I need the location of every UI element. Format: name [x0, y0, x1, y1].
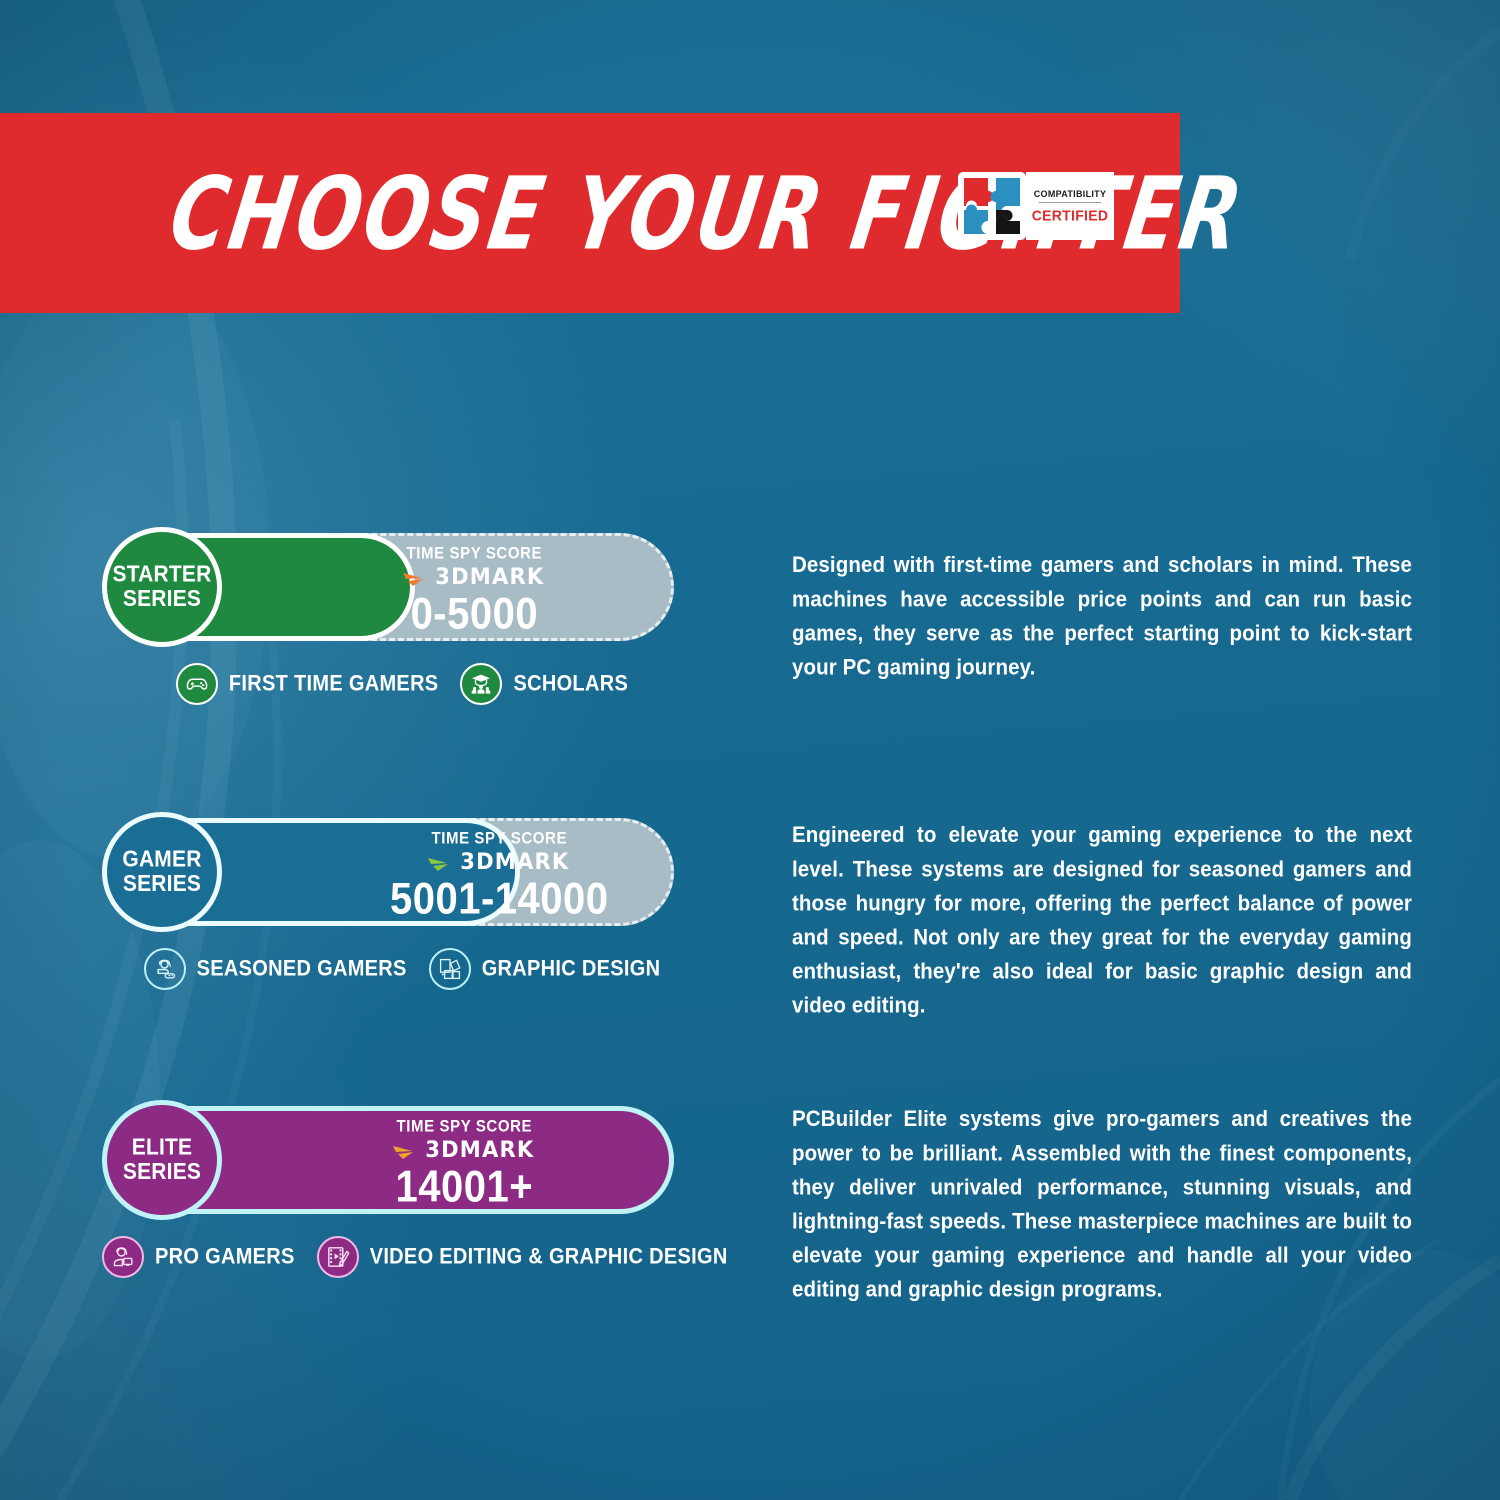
gamer-tag-1[interactable]: GRAPHIC DESIGN	[429, 948, 661, 990]
gamer-3dmark-wordmark: 3DMARK	[460, 850, 569, 876]
elite-score-block: TIME SPY SCORE 3DMARK 14001+	[392, 1118, 537, 1210]
gamer-series-badge-label: GAMER SERIES	[122, 847, 201, 896]
gamer-tags: SEASONED GAMERS GRAPHIC DESIGN	[102, 948, 702, 990]
elite-tag-0[interactable]: PRO GAMERS	[102, 1236, 295, 1278]
starter-tag-1-label: SCHOLARS	[513, 671, 628, 697]
cert-certified-label: CERTIFIED	[1032, 207, 1109, 224]
gamepad-icon	[176, 663, 218, 705]
elite-3dmark-logo: 3DMARK	[392, 1138, 537, 1163]
gamer-tag-0-label: SEASONED GAMERS	[197, 956, 407, 982]
gamepad-glyph	[185, 672, 209, 696]
puzzle-icon	[958, 172, 1026, 240]
palette-glyph	[438, 957, 462, 981]
elite-tags: PRO GAMERS	[102, 1236, 702, 1278]
compatibility-certified-badge: COMPATIBILITY CERTIFIED	[958, 172, 1114, 240]
scholars-icon	[460, 663, 502, 705]
starter-3dmark-logo: 3DMARK	[402, 565, 547, 590]
headset-gamer-glyph	[153, 957, 177, 981]
video-edit-icon	[317, 1236, 359, 1278]
3dmark-swoosh-icon	[402, 568, 430, 588]
starter-tag-0-label: FIRST TIME GAMERS	[229, 671, 439, 697]
gamer-score-caption: TIME SPY SCORE	[431, 829, 567, 848]
elite-score-caption: TIME SPY SCORE	[397, 1117, 533, 1136]
starter-tags: FIRST TIME GAMERS SCHOLARS	[102, 663, 702, 705]
starter-score-value: 0-5000	[411, 589, 539, 639]
starter-series-badge[interactable]: STARTER SERIES	[102, 527, 222, 647]
elite-series-badge-label: ELITE SERIES	[123, 1135, 201, 1184]
pro-gamer-icon	[102, 1236, 144, 1278]
palette-icon	[429, 948, 471, 990]
cert-compatibility-label: COMPATIBILITY	[1034, 189, 1107, 200]
starter-tag-0[interactable]: FIRST TIME GAMERS	[176, 663, 439, 705]
starter-tag-1[interactable]: SCHOLARS	[460, 663, 628, 705]
gamer-tag-0[interactable]: SEASONED GAMERS	[144, 948, 407, 990]
elite-tag-1-label: VIDEO EDITING & GRAPHIC DESIGN	[370, 1244, 728, 1270]
pro-gamer-glyph	[111, 1245, 135, 1269]
elite-3dmark-wordmark: 3DMARK	[425, 1138, 534, 1164]
gamer-score-block: TIME SPY SCORE 3DMARK 5001-14000	[390, 830, 609, 922]
3dmark-swoosh-icon	[427, 853, 455, 873]
elite-tag-0-label: PRO GAMERS	[155, 1244, 295, 1270]
starter-score-block: TIME SPY SCORE 3DMARK 0-5000	[402, 545, 547, 637]
3dmark-swoosh-icon	[392, 1141, 420, 1161]
gamer-series-badge[interactable]: GAMER SERIES	[102, 812, 222, 932]
starter-description: Designed with first-time gamers and scho…	[792, 548, 1412, 684]
elite-score-value: 14001+	[396, 1162, 534, 1212]
starter-3dmark-wordmark: 3DMARK	[435, 565, 544, 591]
video-edit-glyph	[326, 1245, 350, 1269]
elite-tag-1[interactable]: VIDEO EDITING & GRAPHIC DESIGN	[317, 1236, 728, 1278]
starter-series-badge-label: STARTER SERIES	[112, 562, 211, 611]
gamer-tag-1-label: GRAPHIC DESIGN	[482, 956, 661, 982]
gamer-3dmark-logo: 3DMARK	[427, 850, 572, 875]
cert-text-block: COMPATIBILITY CERTIFIED	[1026, 172, 1114, 240]
elite-description: PCBuilder Elite systems give pro-gamers …	[792, 1102, 1412, 1307]
gamer-score-value: 5001-14000	[390, 874, 609, 924]
gamer-description: Engineered to elevate your gaming experi…	[792, 818, 1412, 1023]
infographic-page: CHOOSE YOUR FIGHTER COMPATIBILITY CERTIF…	[0, 0, 1500, 1500]
elite-series-badge[interactable]: ELITE SERIES	[102, 1100, 222, 1220]
starter-score-caption: TIME SPY SCORE	[407, 544, 543, 563]
headset-gamer-icon	[144, 948, 186, 990]
cert-divider	[1039, 202, 1101, 203]
scholars-glyph	[469, 672, 493, 696]
